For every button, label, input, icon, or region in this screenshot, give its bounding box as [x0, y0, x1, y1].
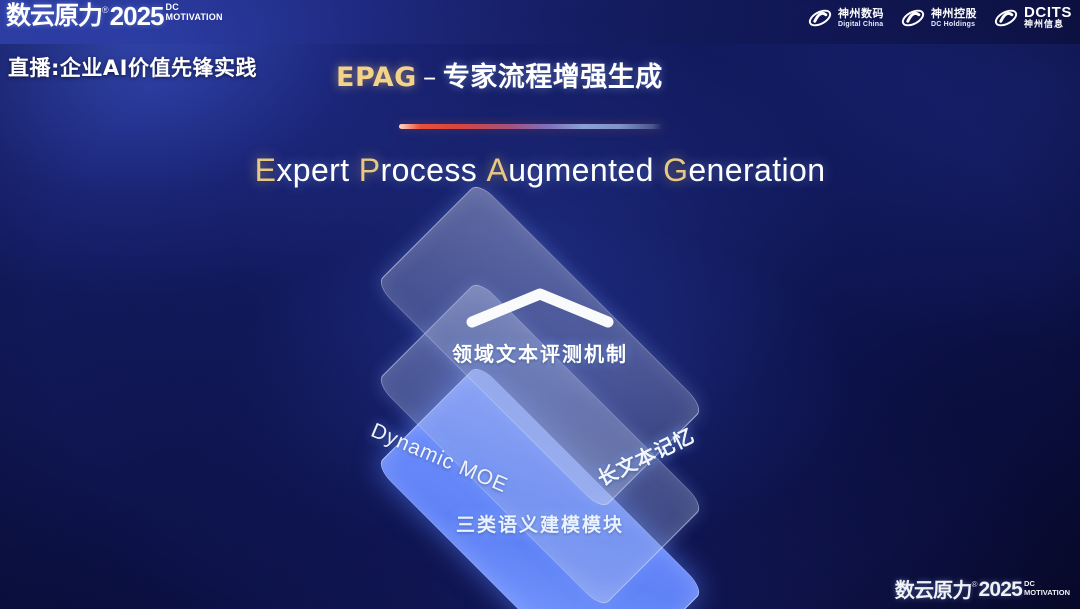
watermark-registered-mark: ® [972, 580, 978, 590]
partner-logo-dc-holdings: 神州控股 DC Holdings [900, 5, 977, 31]
top-bar: 数云原力 ® 2025 DC MOTIVATION 神州数码 Digital C… [0, 0, 1080, 44]
partner-logo-dcits: DCITS 神州信息 [993, 5, 1072, 31]
subtitle-cap-p: P [359, 152, 381, 188]
subtitle-rest-expert: xpert [276, 152, 349, 188]
swirl-icon [900, 5, 926, 31]
watermark-dc-line1: DC [1024, 580, 1070, 588]
brand-name-cn: 数云原力 [6, 2, 102, 30]
brand-registered-mark: ® [102, 4, 109, 16]
swirl-icon [993, 5, 1019, 31]
layered-stack-diagram: 领域文本评测机制 Dynamic MOE 长文本记忆 三类语义建模模块 [0, 228, 1080, 558]
title-dash: – [417, 62, 443, 93]
watermark-name-cn: 数云原力 [895, 579, 972, 601]
partner-text: 神州控股 DC Holdings [931, 8, 977, 29]
chevron-up-icon [464, 284, 616, 330]
title-chinese: 专家流程增强生成 [443, 62, 663, 93]
swirl-icon [807, 5, 833, 31]
presentation-slide: 数云原力 ® 2025 DC MOTIVATION 神州数码 Digital C… [0, 0, 1080, 609]
watermark-year: 2025 [979, 579, 1023, 601]
live-stream-label: 直播:企业AI价值先锋实践 [8, 52, 257, 82]
partner-name-en: Digital China [838, 20, 884, 29]
brand-dc-line1: DC [166, 3, 223, 12]
brand-dc-motivation: DC MOTIVATION [166, 3, 223, 22]
footer-watermark-logo: 数云原力 ® 2025 DC MOTIVATION [895, 579, 1070, 601]
gradient-divider [399, 124, 663, 129]
stack-layer-top-label: 领域文本评测机制 [0, 338, 1080, 367]
partner-name-cn: 神州控股 [931, 8, 977, 20]
title-acronym: EPAG [336, 62, 417, 93]
partner-name-cn: 神州信息 [1024, 20, 1072, 31]
brand-dc-line2: MOTIVATION [166, 12, 223, 22]
brand-year: 2025 [110, 2, 164, 30]
subtitle-rest-generation: eneration [688, 152, 825, 188]
partner-name-en: DCITS [1024, 5, 1072, 20]
subtitle-cap-a: A [486, 152, 508, 188]
partner-logo-digital-china: 神州数码 Digital China [807, 5, 884, 31]
page-title: EPAG–专家流程增强生成 [336, 55, 663, 94]
partner-text: 神州数码 Digital China [838, 8, 884, 29]
subtitle-cap-e: E [255, 152, 277, 188]
watermark-dc-line2: MOTIVATION [1024, 588, 1070, 597]
stack-layer-bottom-label: 三类语义建模模块 [0, 510, 1080, 537]
subtitle-cap-g: G [663, 152, 688, 188]
subtitle-rest-augmented: ugmented [508, 152, 654, 188]
watermark-dc-motivation: DC MOTIVATION [1024, 580, 1070, 597]
partner-text: DCITS 神州信息 [1024, 5, 1072, 31]
partner-name-en: DC Holdings [931, 20, 977, 29]
brand-logo: 数云原力 ® 2025 DC MOTIVATION [6, 2, 223, 30]
subtitle-rest-process: rocess [381, 152, 478, 188]
subtitle-expansion: Expert Process Augmented Generation [0, 152, 1080, 189]
partner-name-cn: 神州数码 [838, 8, 884, 20]
partner-logo-group: 神州数码 Digital China 神州控股 DC Holdings [807, 5, 1072, 31]
